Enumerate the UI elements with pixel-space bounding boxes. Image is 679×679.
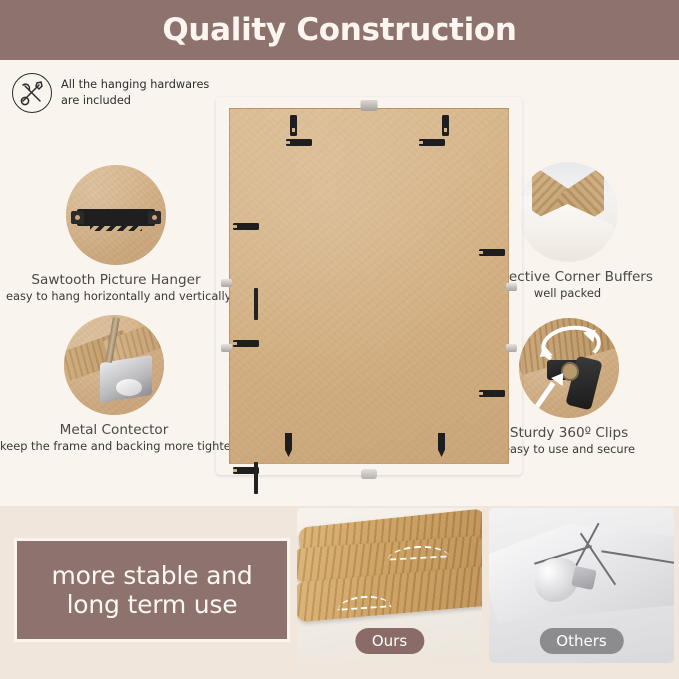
sawtooth-hanger <box>361 100 378 111</box>
feature-sawtooth-picture-hanger: Sawtooth Picture Hanger easy to hang hor… <box>6 165 226 303</box>
comparison-ours: Ours <box>297 508 482 663</box>
rotating-clip <box>233 223 259 230</box>
frame-bottom-tab <box>361 469 377 479</box>
tools-crossed-icon <box>12 73 52 113</box>
feature-subtitle: easy to hang horizontally and vertically <box>6 289 226 303</box>
feature-metal-contector: Metal Contector keep the frame and backi… <box>0 315 228 453</box>
feature-subtitle: keep the frame and backing more tighter <box>0 439 228 453</box>
label-pill-ours: Ours <box>355 628 424 654</box>
broken-chip <box>571 566 597 590</box>
metal-connector <box>506 283 517 291</box>
metal-connector-photo <box>64 315 164 415</box>
kraft-backing-board <box>229 108 509 464</box>
page-title: Quality Construction <box>162 12 516 48</box>
rotating-clip <box>442 115 449 136</box>
rotating-clip <box>290 115 297 136</box>
comparison-others: Others <box>489 508 674 663</box>
value-banner: more stable and long term use <box>14 538 290 642</box>
hanging-hardware-note: All the hanging hardwares are included <box>12 70 242 116</box>
metal-connector <box>221 344 232 352</box>
rotating-clip <box>479 390 505 397</box>
rotating-clip <box>254 288 258 320</box>
picture-frame-back-photo <box>216 97 522 475</box>
value-banner-text: more stable and long term use <box>51 561 252 620</box>
label-pill-others: Others <box>539 628 623 654</box>
hanging-hardware-text: All the hanging hardwares are included <box>61 77 209 110</box>
rotating-clip <box>419 139 445 146</box>
sawtooth-hanger-photo <box>66 165 166 265</box>
feature-title: Sawtooth Picture Hanger <box>6 272 226 288</box>
rotating-clip <box>286 139 312 146</box>
hanging-hardware-line2: are included <box>61 93 209 109</box>
value-banner-line2: long term use <box>51 590 252 620</box>
hanging-hardware-line1: All the hanging hardwares <box>61 77 209 93</box>
header-bar: Quality Construction <box>0 0 679 60</box>
metal-connector <box>221 279 232 287</box>
corner-buffer-photo <box>518 162 618 262</box>
infographic-page: Quality Construction All the hanging har… <box>0 0 679 679</box>
feature-title: Metal Contector <box>0 422 228 438</box>
metal-connector <box>506 344 517 352</box>
rotating-clip <box>254 462 258 494</box>
rotating-clip <box>479 249 505 256</box>
rotating-clip-photo <box>519 318 619 418</box>
rotating-clip <box>233 340 259 347</box>
value-banner-line1: more stable and <box>51 561 252 591</box>
